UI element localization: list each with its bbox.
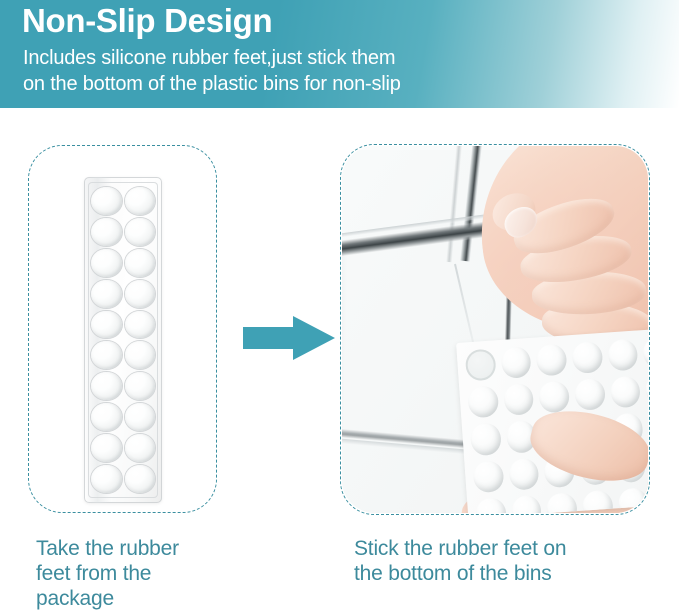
bumper bbox=[125, 311, 156, 339]
header-subtitle-line-2: on the bottom of the plastic bins for no… bbox=[23, 71, 401, 97]
bumper bbox=[91, 280, 122, 308]
bumper bbox=[125, 187, 156, 215]
right-step-caption: Stick the rubber feet on the bottom of t… bbox=[354, 536, 566, 586]
right-caption-line-1: Stick the rubber feet on bbox=[354, 536, 566, 561]
infographic-page: Non-Slip Design Includes silicone rubber… bbox=[0, 0, 679, 614]
bumper bbox=[91, 372, 122, 400]
bumper bbox=[125, 341, 156, 369]
bumper bbox=[125, 465, 156, 493]
bumper bbox=[125, 218, 156, 246]
right-caption-line-2: the bottom of the bins bbox=[354, 561, 566, 586]
step-arrow-icon bbox=[243, 316, 335, 360]
bumper bbox=[91, 341, 122, 369]
rubber-feet-package-photo bbox=[84, 177, 162, 503]
bumper bbox=[91, 187, 122, 215]
bumper bbox=[91, 311, 122, 339]
bumper bbox=[91, 434, 122, 462]
bumper bbox=[125, 249, 156, 277]
bumper bbox=[125, 372, 156, 400]
package-bumper-grid bbox=[90, 186, 156, 494]
left-caption-line-2: feet from the bbox=[36, 561, 179, 586]
header-subtitle-line-1: Includes silicone rubber feet,just stick… bbox=[23, 45, 401, 71]
bumper bbox=[91, 403, 122, 431]
header-banner: Non-Slip Design Includes silicone rubber… bbox=[0, 0, 679, 108]
bumper bbox=[91, 218, 122, 246]
right-step-panel bbox=[340, 144, 650, 515]
left-caption-line-3: package bbox=[36, 586, 179, 611]
bumper bbox=[91, 465, 122, 493]
left-step-caption: Take the rubber feet from the package bbox=[36, 536, 179, 611]
bumper bbox=[125, 434, 156, 462]
page-title: Non-Slip Design bbox=[22, 2, 272, 40]
bumper bbox=[91, 249, 122, 277]
bumper bbox=[125, 280, 156, 308]
left-caption-line-1: Take the rubber bbox=[36, 536, 179, 561]
header-subtitle: Includes silicone rubber feet,just stick… bbox=[23, 45, 401, 97]
bumper bbox=[125, 403, 156, 431]
